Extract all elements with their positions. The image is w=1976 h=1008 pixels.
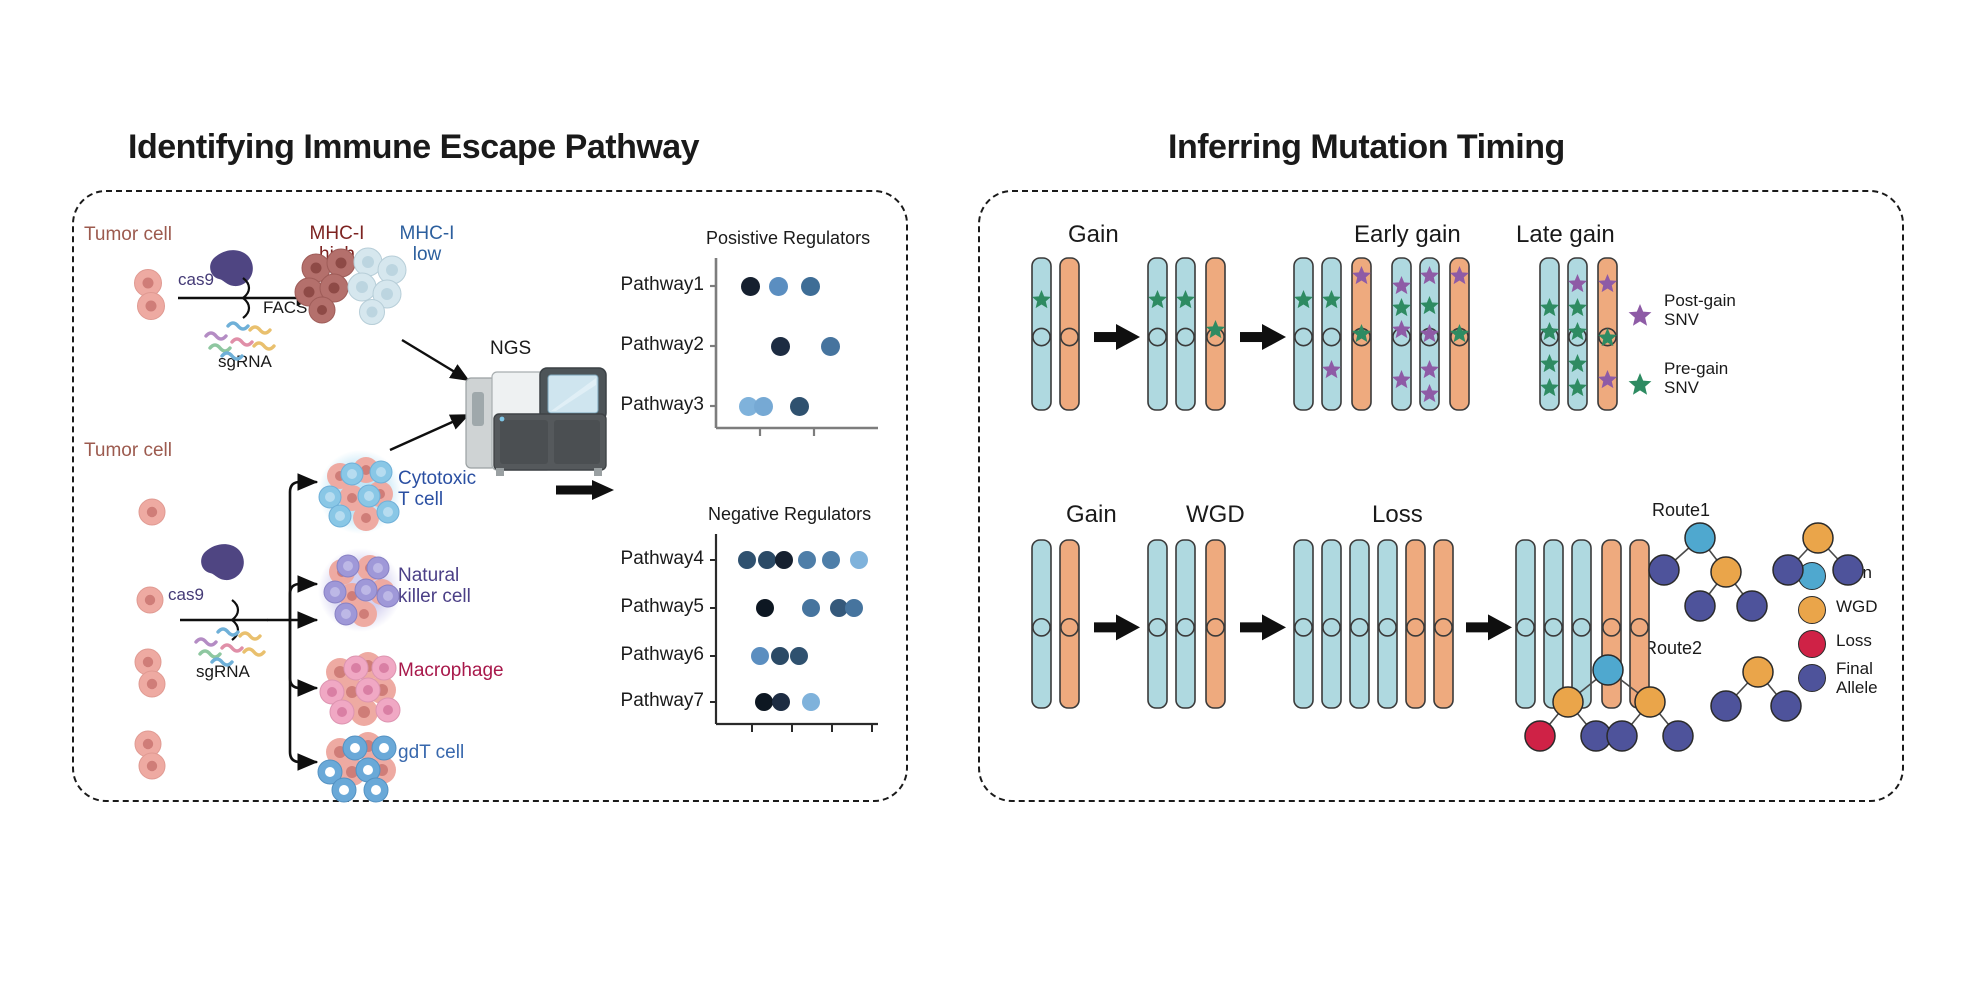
row1-step-early-gain: Early gain: [1354, 222, 1461, 249]
scatter-point: [769, 277, 788, 296]
mhc-high-label: MHC-I high: [300, 223, 374, 266]
scatter-point: [754, 397, 773, 416]
cas9-label-bottom: cas9: [168, 585, 204, 604]
facs-label: FACS: [263, 298, 307, 317]
row1-step-late-gain: Late gain: [1516, 222, 1615, 249]
scatter-point: [822, 551, 840, 569]
row1-step-gain: Gain: [1068, 222, 1119, 249]
sgrna-label-bottom: sgRNA: [196, 662, 250, 681]
scatter-point: [741, 277, 760, 296]
legend-label-final-allele: Final Allele: [1836, 660, 1878, 697]
row2-step-gain: Gain: [1066, 502, 1117, 529]
negative-regulators-chart: Negative Regulators Pathway4 Pathway5 Pa…: [620, 490, 880, 780]
gdt-cell-label: gdT cell: [398, 742, 464, 763]
legend-label-loss: Loss: [1836, 632, 1872, 651]
scatter-point: [756, 599, 774, 617]
pre-gain-snv-label: Pre-gain SNV: [1664, 360, 1728, 397]
legend-swatch-final-allele: [1798, 664, 1826, 692]
left-panel-title: Identifying Immune Escape Pathway: [128, 128, 699, 167]
scatter-point: [845, 599, 863, 617]
scatter-point: [758, 551, 776, 569]
scatter-point: [772, 693, 790, 711]
route1-label: Route1: [1652, 500, 1710, 521]
natural-killer-cell-label: Natural killer cell: [398, 565, 471, 608]
tumor-cell-label-top: Tumor cell: [84, 224, 172, 245]
cytotoxic-t-cell-label: Cytotoxic T cell: [398, 468, 476, 511]
cas9-label-top: cas9: [178, 270, 214, 289]
scatter-point: [802, 693, 820, 711]
legend-swatch-wgd: [1798, 596, 1826, 624]
scatter-point: [755, 693, 773, 711]
scatter-point: [798, 551, 816, 569]
scatter-point: [751, 647, 769, 665]
ngs-label: NGS: [490, 338, 531, 359]
scatter-point: [790, 647, 808, 665]
negative-regulators-points: [620, 490, 880, 780]
scatter-point: [738, 551, 756, 569]
route2-label: Route2: [1644, 638, 1702, 659]
legend-swatch-gain: [1798, 562, 1826, 590]
macrophage-label: Macrophage: [398, 660, 504, 681]
scatter-point: [802, 599, 820, 617]
scatter-point: [771, 647, 789, 665]
scatter-point: [771, 337, 790, 356]
row2-step-loss: Loss: [1372, 502, 1423, 529]
scatter-point: [775, 551, 793, 569]
tumor-cell-label-bottom: Tumor cell: [84, 440, 172, 461]
row2-step-wgd: WGD: [1186, 502, 1245, 529]
legend-label-wgd: WGD: [1836, 598, 1878, 617]
scatter-point: [801, 277, 820, 296]
post-gain-snv-label: Post-gain SNV: [1664, 292, 1736, 329]
positive-regulators-points: [620, 228, 880, 488]
scatter-point: [790, 397, 809, 416]
right-panel-border: [978, 190, 1904, 802]
sgrna-label-top: sgRNA: [218, 352, 272, 371]
positive-regulators-chart: Posistive Regulators Pathway1 Pathway2 P…: [620, 228, 880, 488]
scatter-point: [850, 551, 868, 569]
mhc-low-label: MHC-I low: [390, 223, 464, 266]
legend-swatch-loss: [1798, 630, 1826, 658]
legend-label-gain: Gain: [1836, 564, 1872, 583]
right-panel-title: Inferring Mutation Timing: [1168, 128, 1565, 167]
scatter-point: [821, 337, 840, 356]
